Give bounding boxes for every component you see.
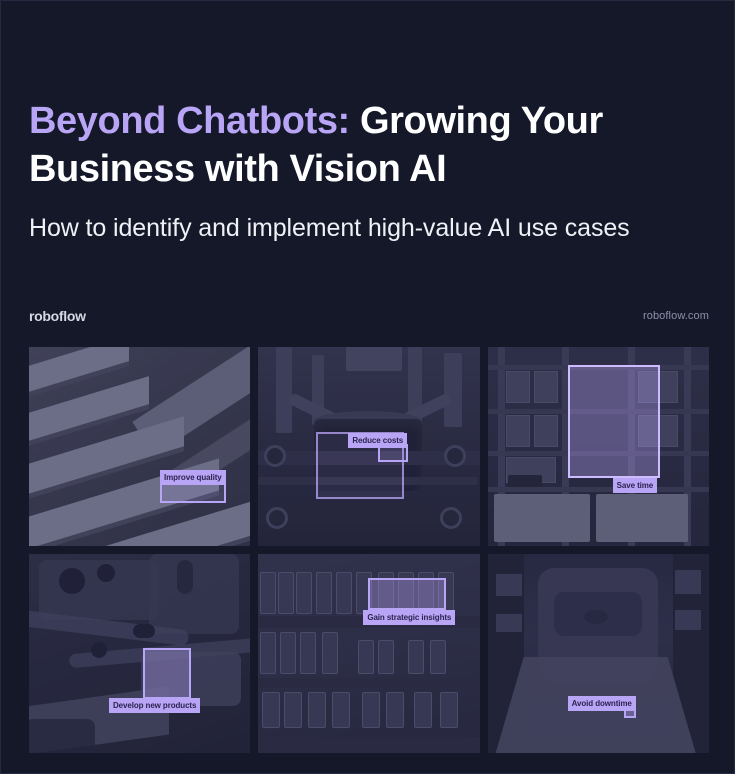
page-subtitle: How to identify and implement high-value… <box>29 211 649 246</box>
detection-label-avoid-downtime: Avoid downtime <box>568 696 636 711</box>
detection-box-develop-new-products <box>143 648 191 699</box>
gallery-tile-avoid-downtime[interactable]: Avoid downtime <box>488 554 709 753</box>
image-gallery-grid: Improve quality <box>29 347 709 753</box>
slide-root: Beyond Chatbots: Growing Your Business w… <box>0 0 735 774</box>
gallery-tile-gain-strategic-insights[interactable]: Gain strategic insights <box>258 554 479 753</box>
page-title-accent: Beyond Chatbots: <box>29 100 350 142</box>
gallery-tile-improve-quality[interactable]: Improve quality <box>29 347 250 546</box>
roboflow-logo: roboflow <box>29 308 86 324</box>
detection-label-improve-quality: Improve quality <box>160 470 226 485</box>
detection-box-save-time <box>568 365 660 478</box>
hero-text-block: Beyond Chatbots: Growing Your Business w… <box>29 97 689 246</box>
brand-row: roboflow roboflow.com <box>29 308 709 324</box>
gallery-tile-save-time[interactable]: Save time <box>488 347 709 546</box>
gallery-tile-reduce-costs[interactable]: Reduce costs <box>258 347 479 546</box>
roboflow-url: roboflow.com <box>643 310 709 322</box>
detection-box-gain-strategic-insights <box>368 578 446 610</box>
gallery-tile-develop-new-products[interactable]: Develop new products <box>29 554 250 753</box>
detection-label-reduce-costs: Reduce costs <box>348 433 407 448</box>
detection-label-gain-strategic-insights: Gain strategic insights <box>363 610 455 625</box>
detection-label-develop-new-products: Develop new products <box>109 698 200 713</box>
detection-label-save-time: Save time <box>613 478 657 493</box>
page-title: Beyond Chatbots: Growing Your Business w… <box>29 97 689 193</box>
